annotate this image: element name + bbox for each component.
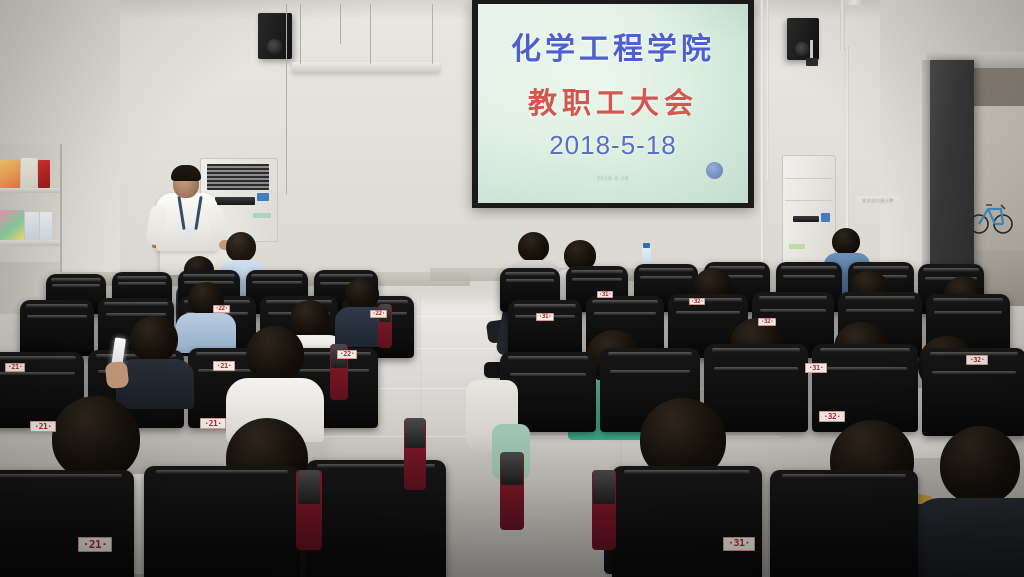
- air-conditioner-right: [782, 155, 836, 269]
- auditorium-seat[interactable]: [508, 300, 582, 358]
- seat-armrest: [296, 470, 322, 550]
- slide-footnote: 2018-5-18: [478, 176, 748, 182]
- seat-number-label: ·22·: [370, 310, 387, 318]
- seat-number-label: ·32·: [758, 318, 776, 326]
- seat-number-label: ·21·: [78, 537, 112, 552]
- slide-title-department: 化学工程学院: [478, 24, 748, 68]
- seat-number-label: ·31·: [723, 537, 755, 551]
- hanging-light-fixture: [292, 62, 440, 73]
- bicycle-icon: [968, 196, 1014, 236]
- auditorium-seat[interactable]: [144, 466, 300, 577]
- magazine-rack: [0, 144, 62, 272]
- id-badge: [185, 228, 192, 238]
- attendee-hand: [105, 361, 130, 389]
- seat-armrest: [500, 452, 524, 530]
- wall-conduit: [840, 0, 845, 50]
- seat-number-label: ·21·: [213, 361, 235, 371]
- presenter-hair: [171, 165, 201, 181]
- seat-armrest: [592, 470, 616, 550]
- seat-number-label: ·21·: [5, 363, 25, 372]
- seat-number-label: ·31·: [805, 363, 827, 373]
- seat-number-label: ·21·: [200, 418, 226, 429]
- bottle-cap: [643, 243, 650, 248]
- auditorium-seat[interactable]: [612, 466, 762, 577]
- auditorium-seat[interactable]: [20, 300, 94, 356]
- auditorium-seat[interactable]: [0, 470, 134, 577]
- seat-number-label: ·31·: [536, 313, 554, 321]
- seat-number-label: ·22·: [337, 350, 357, 359]
- seat-number-label: ·32·: [819, 411, 845, 422]
- auditorium-photo: 化学工程学院 教职工大会 2018-5-18 2018-5-18: [0, 0, 1024, 577]
- slide-title-meeting: 教职工大会: [478, 80, 748, 122]
- wall-conduit: [766, 0, 769, 180]
- wall-conduit-bend: [843, 0, 865, 5]
- seat-number-label: ·32·: [966, 355, 988, 365]
- wall-speaker-right-icon: [787, 18, 819, 60]
- seat-number-label: ·31·: [597, 291, 613, 298]
- university-seal-icon: [706, 162, 723, 179]
- wall-sign: 安全出口指示牌: [856, 196, 900, 205]
- slide-date: 2018-5-18: [478, 130, 748, 161]
- wall-conduit: [760, 0, 764, 270]
- seat-armrest: [404, 418, 426, 490]
- seat-number-label: ·22·: [213, 305, 230, 313]
- security-camera-icon: [806, 58, 818, 66]
- seat-number-label: ·21·: [30, 421, 56, 432]
- seat-number-label: ·32·: [689, 298, 705, 305]
- auditorium-seat[interactable]: [770, 470, 918, 577]
- camera-mount: [810, 40, 813, 58]
